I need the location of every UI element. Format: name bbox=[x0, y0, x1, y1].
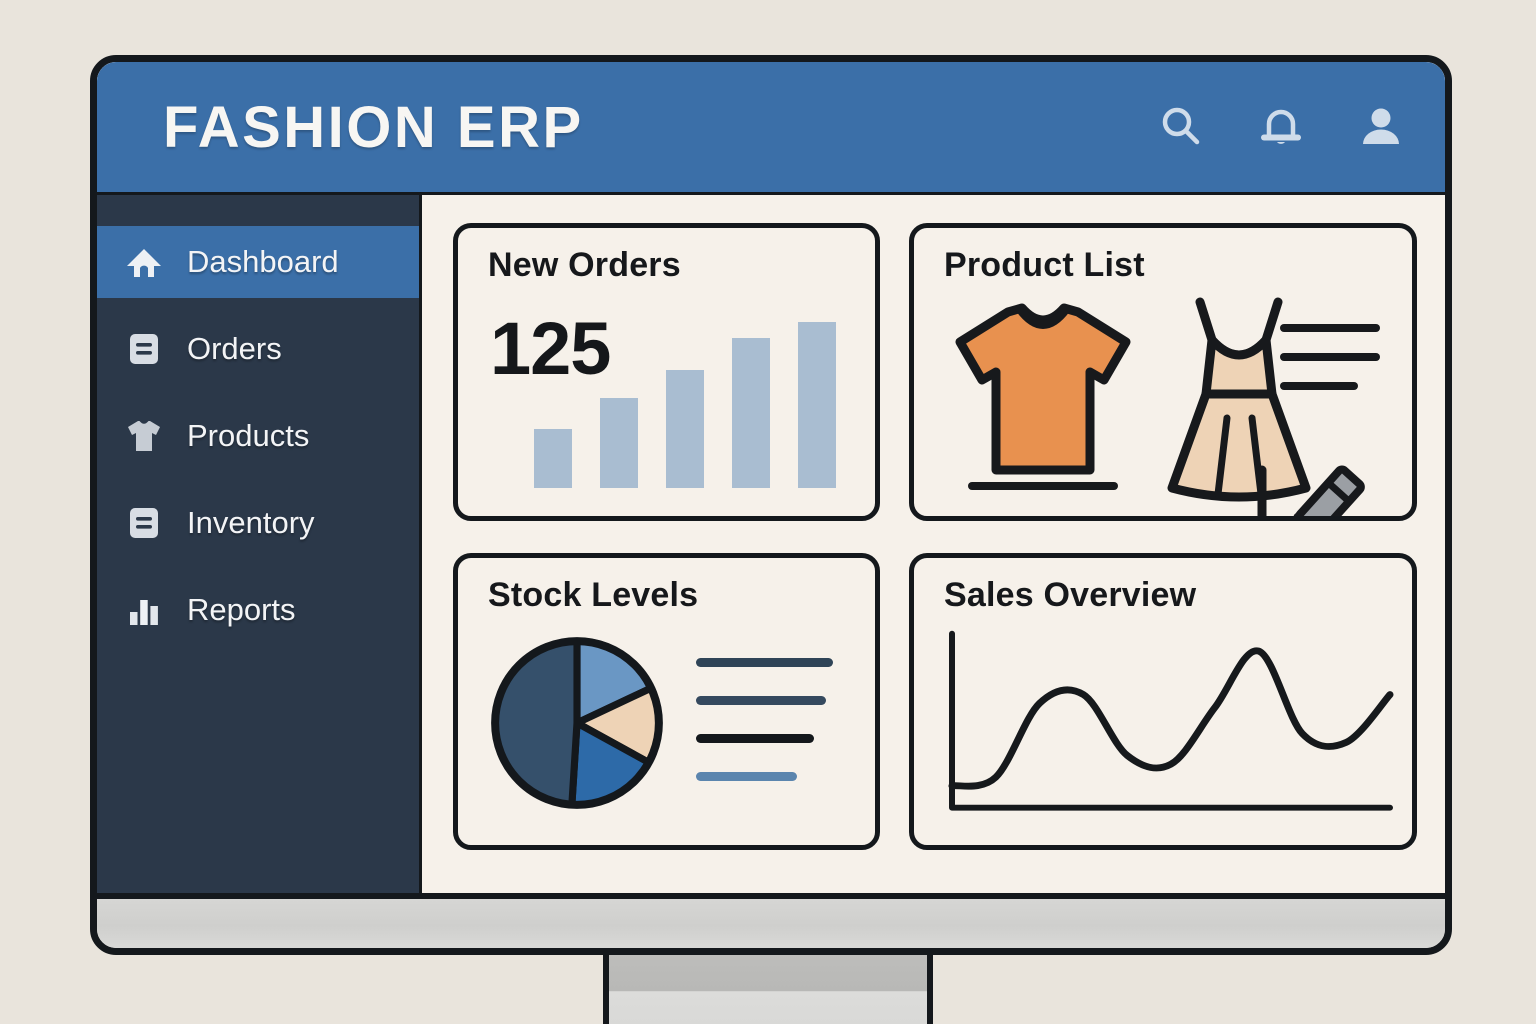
card-title: Product List bbox=[944, 246, 1145, 285]
tshirt-icon bbox=[123, 415, 165, 457]
bell-icon[interactable] bbox=[1257, 103, 1305, 151]
sidebar-item-reports[interactable]: Reports bbox=[97, 574, 419, 646]
sidebar-item-label: Inventory bbox=[187, 505, 315, 541]
legend-line bbox=[696, 658, 833, 667]
pie-slice bbox=[495, 641, 577, 805]
app-header: FASHION ERP bbox=[97, 62, 1445, 195]
list-icon bbox=[123, 502, 165, 544]
edit-pencil-icon[interactable] bbox=[1252, 456, 1382, 521]
header-actions bbox=[1157, 103, 1405, 151]
bar bbox=[666, 370, 704, 488]
monitor-frame: FASHION ERP bbox=[90, 55, 1452, 955]
monitor-bottom-bezel bbox=[97, 893, 1445, 948]
bar bbox=[798, 322, 836, 488]
sidebar-item-inventory[interactable]: Inventory bbox=[97, 487, 419, 559]
tshirt-icon bbox=[950, 296, 1136, 501]
sidebar-spacer bbox=[97, 385, 419, 400]
sidebar-item-label: Reports bbox=[187, 592, 296, 628]
bar bbox=[534, 429, 572, 488]
product-detail-lines bbox=[1280, 324, 1380, 390]
sidebar-item-products[interactable]: Products bbox=[97, 400, 419, 472]
screenshot-scene: FASHION ERP bbox=[0, 0, 1536, 1024]
sidebar-item-label: Products bbox=[187, 418, 309, 454]
sidebar-item-label: Orders bbox=[187, 331, 282, 367]
card-title: New Orders bbox=[488, 246, 681, 285]
card-title: Stock Levels bbox=[488, 576, 698, 615]
sidebar-item-dashboard[interactable]: Dashboard bbox=[97, 226, 419, 298]
sidebar-spacer bbox=[97, 298, 419, 313]
page-title: FASHION ERP bbox=[163, 94, 584, 161]
legend-line bbox=[696, 734, 814, 743]
dashboard-grid: New Orders 125 Product List bbox=[422, 195, 1452, 900]
bar-chart-icon bbox=[123, 589, 165, 631]
legend-line bbox=[696, 772, 797, 781]
legend-line bbox=[696, 696, 826, 705]
sidebar-item-label: Dashboard bbox=[187, 244, 339, 280]
detail-line bbox=[1280, 353, 1380, 361]
card-title: Sales Overview bbox=[944, 576, 1196, 615]
new-orders-bar-chart bbox=[534, 308, 864, 488]
chart-axes bbox=[952, 634, 1390, 808]
sidebar-item-orders[interactable]: Orders bbox=[97, 313, 419, 385]
user-avatar-icon[interactable] bbox=[1357, 103, 1405, 151]
monitor-stand bbox=[603, 955, 933, 1024]
bar bbox=[732, 338, 770, 488]
search-icon[interactable] bbox=[1157, 103, 1205, 151]
sidebar-spacer bbox=[97, 559, 419, 574]
monitor-screen: FASHION ERP bbox=[97, 62, 1445, 900]
sales-overview-line-chart bbox=[926, 620, 1406, 835]
detail-line bbox=[1280, 324, 1380, 332]
sidebar: Dashboard Orders bbox=[97, 195, 422, 900]
card-new-orders[interactable]: New Orders 125 bbox=[453, 223, 880, 521]
app-body: Dashboard Orders bbox=[97, 195, 1445, 900]
card-stock-levels[interactable]: Stock Levels bbox=[453, 553, 880, 850]
card-product-list[interactable]: Product List bbox=[909, 223, 1417, 521]
stock-levels-pie-chart bbox=[488, 634, 666, 812]
detail-line bbox=[1280, 382, 1358, 390]
list-icon bbox=[123, 328, 165, 370]
home-icon bbox=[123, 241, 165, 283]
product-divider-line bbox=[968, 482, 1118, 490]
stock-levels-legend bbox=[696, 658, 833, 781]
sidebar-spacer bbox=[97, 472, 419, 487]
product-illustrations bbox=[930, 290, 1402, 508]
card-sales-overview[interactable]: Sales Overview bbox=[909, 553, 1417, 850]
bar bbox=[600, 398, 638, 488]
sales-trend-line bbox=[952, 651, 1390, 786]
